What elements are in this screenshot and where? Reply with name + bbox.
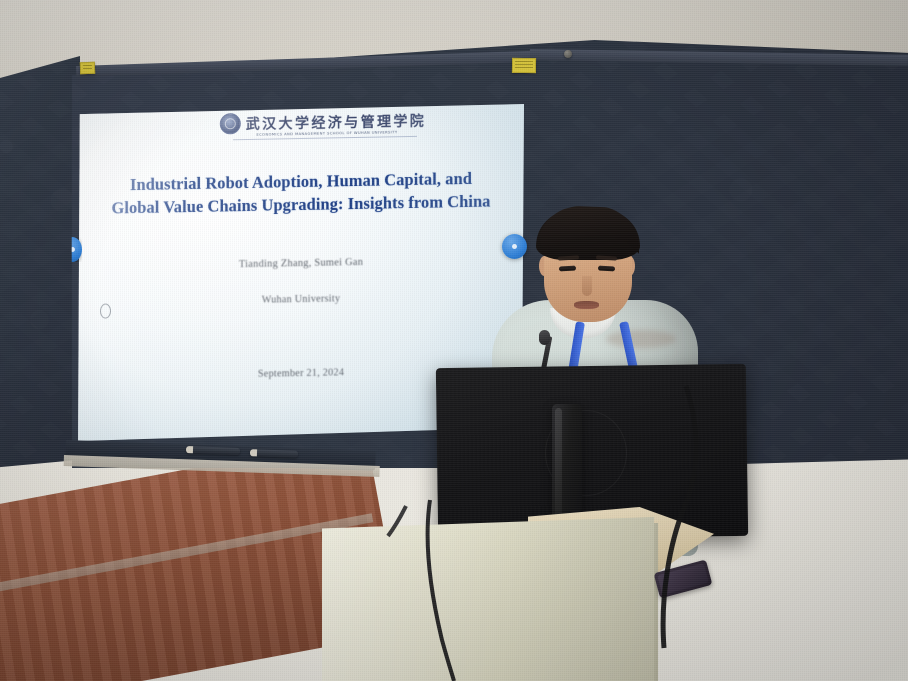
presentation-room-photo: 武汉大学经济与管理学院 ECONOMICS AND MANAGEMENT SCH…: [0, 0, 908, 681]
presenter-mouth: [574, 301, 599, 309]
presenter-eye-left: [559, 266, 576, 272]
yellow-inventory-sticker-right: [512, 58, 536, 73]
mount-screw-icon: [564, 50, 572, 58]
podium: [322, 513, 712, 681]
gooseneck-microphone: [539, 330, 550, 345]
yellow-inventory-sticker-left: [80, 62, 95, 74]
blackboard-panel-left: [0, 56, 80, 468]
presenter-eye-right: [598, 266, 615, 272]
podium-front-panel: [322, 517, 654, 681]
